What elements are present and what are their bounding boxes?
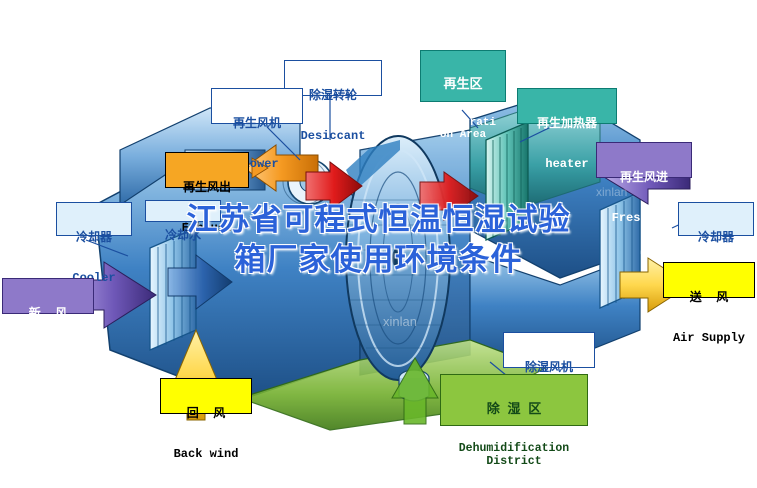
label-regeneration-heater-cn: 再生加热器 xyxy=(518,118,616,131)
label-air-supply-cn: 送 风 xyxy=(664,292,754,305)
label-regeneration-area-en: Regenerati on Area xyxy=(421,117,505,142)
label-air-supply-en: Air Supply xyxy=(664,332,754,345)
label-regeneration-heater: 再生加热器 heater xyxy=(517,88,617,124)
label-dehumidification-blower: 除湿风机 Blower xyxy=(503,332,595,368)
label-dehumidification-district: 除 湿 区 Dehumidification District xyxy=(440,374,588,426)
label-cooler-left-cn: 冷却器 xyxy=(57,232,131,245)
label-regeneration-blower: 再生风机 Blower xyxy=(211,88,303,124)
label-cooler-left: 冷却器 Cooler xyxy=(56,202,132,236)
label-fresh-air-cn: 新 风 xyxy=(3,308,93,321)
label-fresh-air: 新 风 Fresh Air xyxy=(2,278,94,314)
label-dehumidification-district-en: Dehumidification District xyxy=(441,443,587,469)
label-dehumidification-district-cn: 除 湿 区 xyxy=(441,403,587,418)
label-air-supply: 送 风 Air Supply xyxy=(663,262,755,298)
label-regeneration-inlet: 再生风进 Fresh Air xyxy=(596,142,692,178)
label-fresh-air-en: Fresh Air xyxy=(3,348,93,361)
label-regeneration-inlet-en: Fresh Air xyxy=(597,212,691,225)
label-cooling-water-cn: 冷却水 xyxy=(146,230,220,243)
label-regeneration-area-cn: 再生区 xyxy=(421,78,505,93)
label-cooler-right: 冷却器 Cooler xyxy=(678,202,754,236)
label-regeneration-blower-cn: 再生风机 xyxy=(212,118,302,131)
label-cooler-right-cn: 冷却器 xyxy=(679,232,753,245)
label-regeneration-area: 再生区 Regenerati on Area xyxy=(420,50,506,102)
label-regeneration-exhaust-cn: 再生风出 xyxy=(166,182,248,195)
label-back-wind-cn: 回 风 xyxy=(161,408,251,421)
label-regeneration-inlet-cn: 再生风进 xyxy=(597,172,691,185)
label-regeneration-exhaust: 再生风出 Exhaust xyxy=(165,152,249,188)
label-back-wind-en: Back wind xyxy=(161,448,251,461)
watermark-center: xinlan xyxy=(383,314,417,329)
diagram-canvas: xinlan xinlan 除湿转轮 Desiccant 再生风机 Blower… xyxy=(0,0,757,488)
label-back-wind: 回 风 Back wind xyxy=(160,378,252,414)
label-cooling-water: 冷却水 xyxy=(145,200,221,222)
